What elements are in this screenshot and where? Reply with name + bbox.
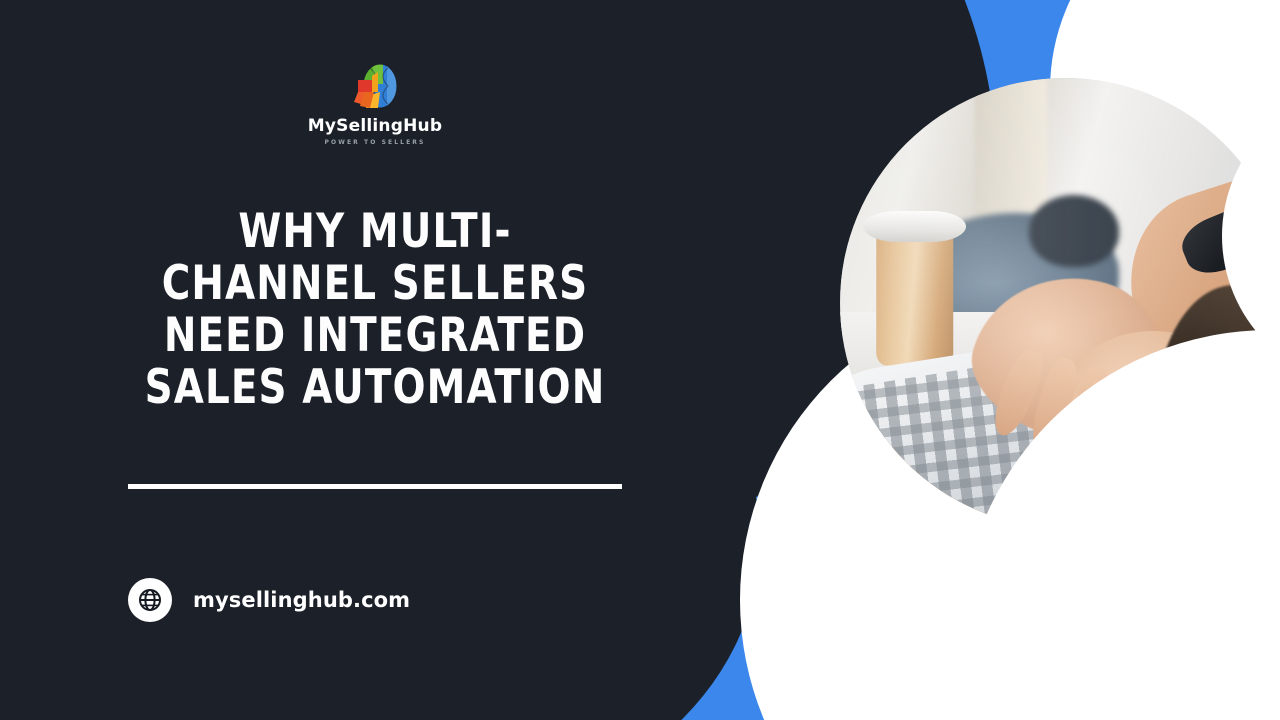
content-column: MySellingHub POWER TO SELLERS Why Multi-… — [0, 0, 750, 720]
brand-name: MySellingHub — [0, 116, 750, 136]
globe-logo-icon — [348, 62, 402, 112]
page-title: Why Multi- Channel Sellers Need Integrat… — [85, 206, 665, 414]
globe-icon — [128, 578, 172, 622]
promo-banner: MySellingHub POWER TO SELLERS Why Multi-… — [0, 0, 1280, 720]
brand-tagline: POWER TO SELLERS — [0, 139, 750, 146]
website-url[interactable]: mysellinghub.com — [193, 588, 410, 612]
brand-logo: MySellingHub POWER TO SELLERS — [0, 62, 750, 146]
website-row[interactable]: mysellinghub.com — [128, 578, 410, 622]
title-divider — [128, 484, 622, 489]
